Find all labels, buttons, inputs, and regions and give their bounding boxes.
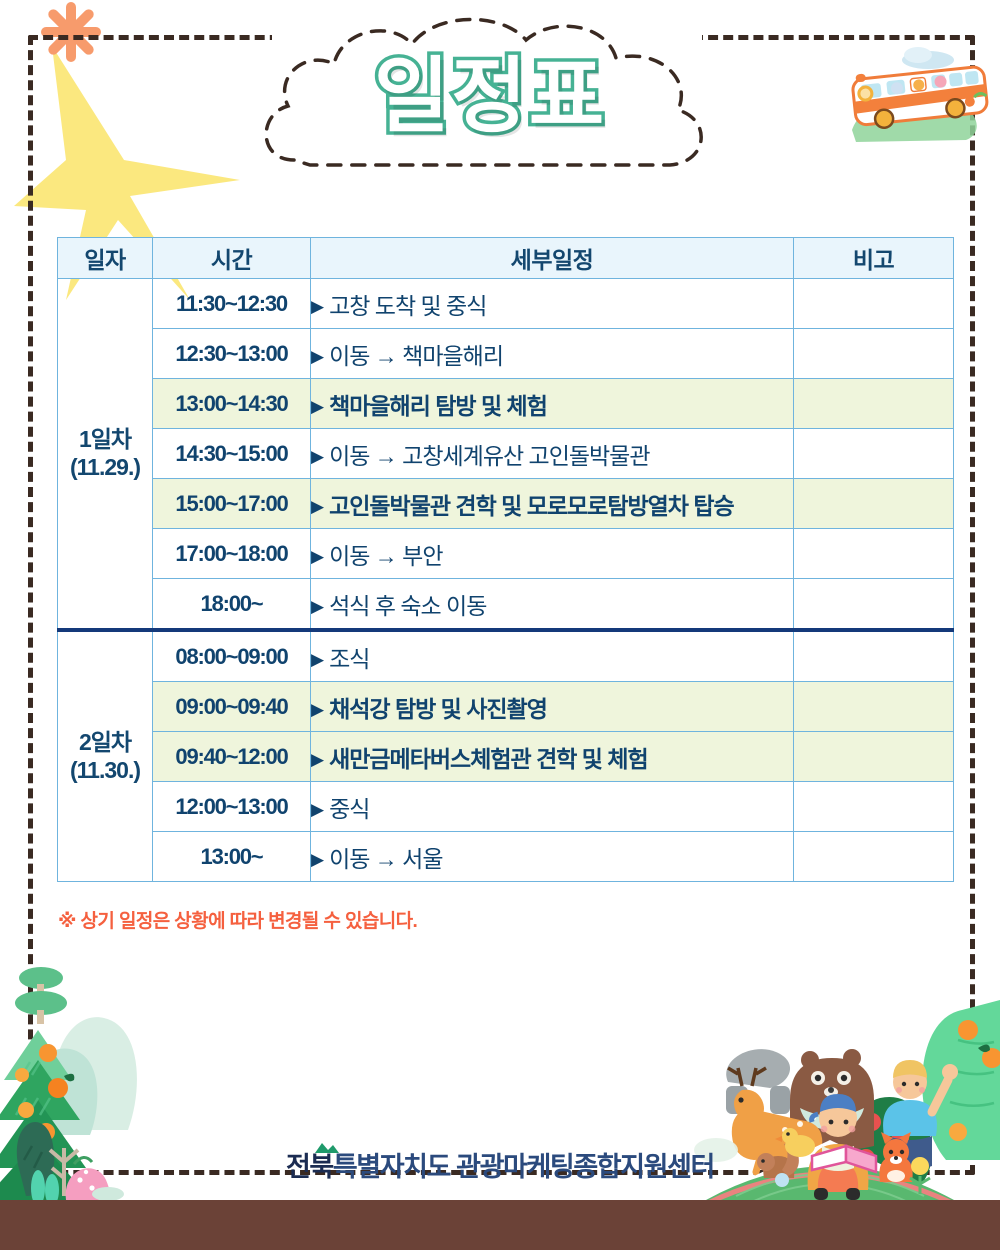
bullet-triangle-icon: ▶ [311,547,323,567]
table-row: 09:00~09:40▶채석강 탐방 및 사진촬영 [58,682,954,732]
day-label-line1: 1일차 [58,426,152,453]
table-row: 09:40~12:00▶새만금메타버스체험관 견학 및 체험 [58,732,954,782]
table-row: 1일차(11.29.)11:30~12:30▶고창 도착 및 중식 [58,279,954,329]
cell-note [794,329,954,379]
cell-note [794,782,954,832]
bullet-triangle-icon: ▶ [311,850,323,870]
table-row: 14:30~15:00▶이동 → 고창세계유산 고인돌박물관 [58,429,954,479]
cell-note [794,732,954,782]
cell-note [794,630,954,682]
bullet-triangle-icon: ▶ [311,700,323,720]
footer-logo-prefix: 전북 [286,1152,333,1182]
table-row: 2일차(11.30.)08:00~09:00▶조식 [58,630,954,682]
schedule-poster: 일정표 [0,0,1000,1250]
bullet-triangle-icon: ▶ [311,750,323,770]
table-row: 17:00~18:00▶이동 → 부안 [58,529,954,579]
cell-time: 11:30~12:30 [153,279,311,329]
cell-detail: ▶석식 후 숙소 이동 [311,579,794,631]
cell-note [794,279,954,329]
table-row: 13:00~14:30▶책마을해리 탐방 및 체험 [58,379,954,429]
cell-detail: ▶중식 [311,782,794,832]
mountain-icon [314,1141,340,1153]
cell-note [794,682,954,732]
cell-detail: ▶새만금메타버스체험관 견학 및 체험 [311,732,794,782]
cell-time: 17:00~18:00 [153,529,311,579]
cell-time: 13:00~ [153,832,311,882]
cell-note [794,379,954,429]
cell-time: 18:00~ [153,579,311,631]
cell-note [794,529,954,579]
table-row: 18:00~▶석식 후 숙소 이동 [58,579,954,631]
day-label-line2: (11.30.) [58,757,152,784]
cell-detail: ▶이동 → 서울 [311,832,794,882]
bullet-triangle-icon: ▶ [311,597,323,617]
header-day: 일자 [58,238,153,279]
cell-time: 12:30~13:00 [153,329,311,379]
title-cloud: 일정표 [250,10,730,200]
schedule-table-body: 1일차(11.29.)11:30~12:30▶고창 도착 및 중식12:30~1… [58,279,954,882]
header-note: 비고 [794,238,954,279]
table-row: 12:30~13:00▶이동 → 책마을해리 [58,329,954,379]
cell-note [794,832,954,882]
cell-time: 15:00~17:00 [153,479,311,529]
cell-time: 08:00~09:00 [153,630,311,682]
cell-time: 09:00~09:40 [153,682,311,732]
schedule-table: 일자 시간 세부일정 비고 1일차(11.29.)11:30~12:30▶고창 … [57,237,954,882]
cell-detail: ▶채석강 탐방 및 사진촬영 [311,682,794,732]
cell-detail: ▶이동 → 책마을해리 [311,329,794,379]
day-label-line2: (11.29.) [58,454,152,481]
bullet-triangle-icon: ▶ [311,447,323,467]
table-row: 15:00~17:00▶고인돌박물관 견학 및 모로모로탐방열차 탑승 [58,479,954,529]
cell-detail: ▶이동 → 부안 [311,529,794,579]
footer-logo-rest: 특별자치도 관광마케팅종합지원센터 [333,1152,714,1182]
footer-logo: 전북 특별자치도 관광마케팅종합지원센터 [0,1145,1000,1184]
bullet-triangle-icon: ▶ [311,650,323,670]
bullet-triangle-icon: ▶ [311,347,323,367]
bullet-triangle-icon: ▶ [311,800,323,820]
cell-detail: ▶이동 → 고창세계유산 고인돌박물관 [311,429,794,479]
bullet-triangle-icon: ▶ [311,397,323,417]
cell-note [794,579,954,631]
header-time: 시간 [153,238,311,279]
table-row: 13:00~▶이동 → 서울 [58,832,954,882]
cell-time: 12:00~13:00 [153,782,311,832]
page-title: 일정표 [250,56,730,138]
cell-detail: ▶고창 도착 및 중식 [311,279,794,329]
cell-time: 09:40~12:00 [153,732,311,782]
schedule-table-container: 일자 시간 세부일정 비고 1일차(11.29.)11:30~12:30▶고창 … [57,237,953,882]
day-label-cell: 2일차(11.30.) [58,630,153,882]
bullet-triangle-icon: ▶ [311,497,323,517]
cell-detail: ▶책마을해리 탐방 및 체험 [311,379,794,429]
ground-bar [0,1200,1000,1250]
table-header-row: 일자 시간 세부일정 비고 [58,238,954,279]
cell-note [794,429,954,479]
footnote-text: ※ 상기 일정은 상황에 따라 변경될 수 있습니다. [58,906,417,933]
day-label-cell: 1일차(11.29.) [58,279,153,631]
cell-time: 14:30~15:00 [153,429,311,479]
header-detail: 세부일정 [311,238,794,279]
cell-note [794,479,954,529]
bullet-triangle-icon: ▶ [311,297,323,317]
cell-detail: ▶조식 [311,630,794,682]
day-label-line1: 2일차 [58,729,152,756]
table-row: 12:00~13:00▶중식 [58,782,954,832]
cell-detail: ▶고인돌박물관 견학 및 모로모로탐방열차 탑승 [311,479,794,529]
cell-time: 13:00~14:30 [153,379,311,429]
